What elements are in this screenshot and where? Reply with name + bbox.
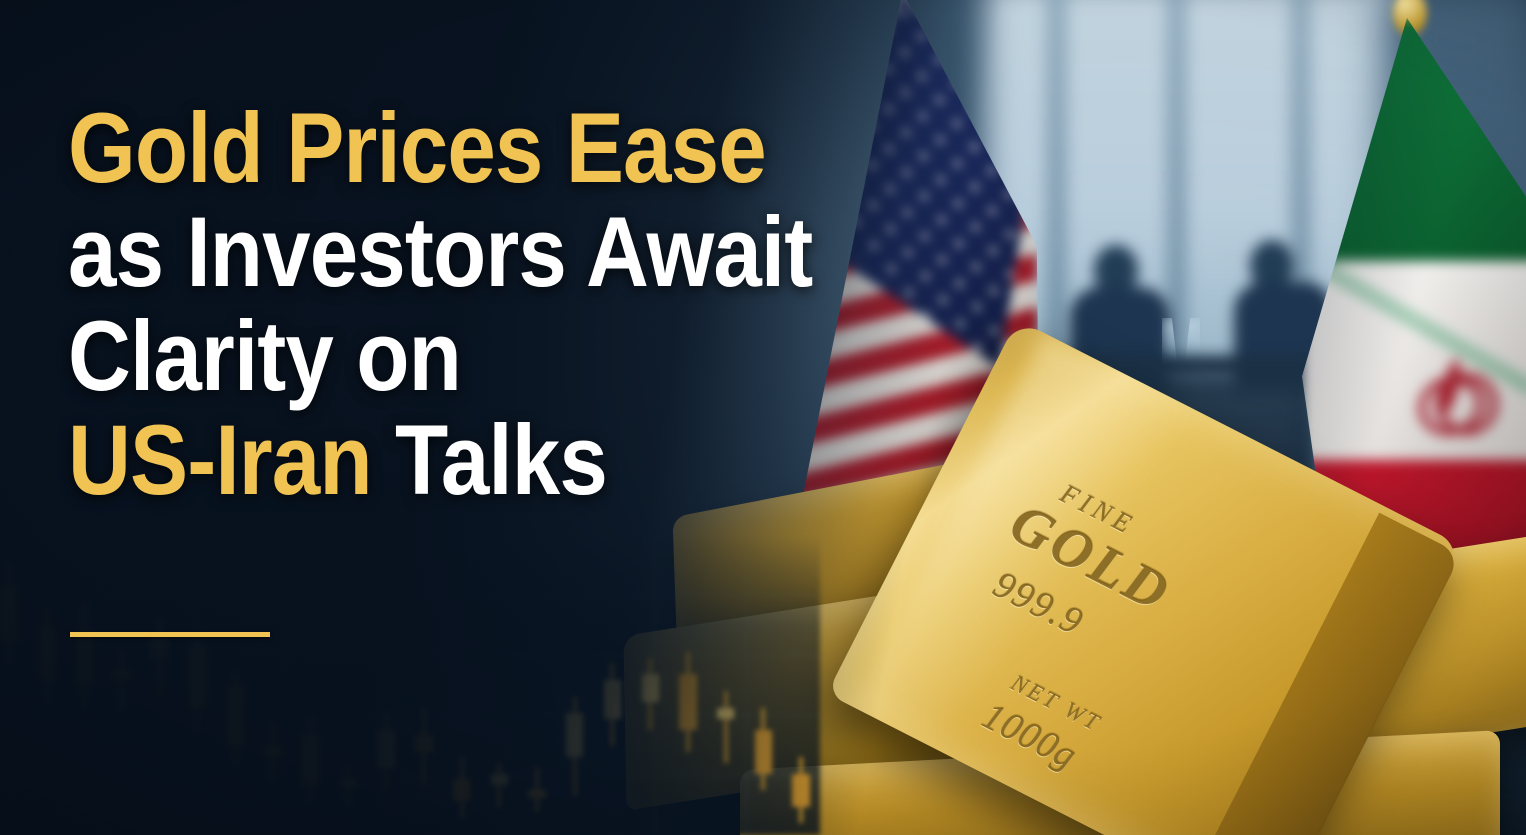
chart-candle-wick [724, 691, 728, 763]
chart-candle-body [264, 746, 281, 757]
chart-gridline-vertical [561, 535, 562, 835]
chart-candle [113, 535, 130, 835]
chart-candle-body [755, 730, 772, 774]
chart-candle [642, 535, 659, 835]
headline-line-3: Clarity on [68, 304, 737, 408]
chart-candle-wick [120, 652, 124, 707]
headline-keyword-us-iran: US-Iran [68, 404, 372, 515]
headline-line-2: as Investors Await [68, 200, 737, 304]
chart-candle-body [189, 647, 206, 708]
chart-candle-body [151, 636, 168, 658]
chart-candle-body [679, 674, 696, 729]
headline-word-talks: Talks [372, 404, 607, 515]
chart-candle-body [38, 625, 55, 680]
chart-candle-body [792, 774, 809, 807]
chart-candle [0, 535, 17, 835]
chart-candle [453, 535, 470, 835]
chart-candle-body [491, 774, 508, 785]
chart-candle [491, 535, 508, 835]
headline-line-1: Gold Prices Ease [68, 96, 737, 200]
headline-line-4: US-Iran Talks [68, 408, 737, 512]
chart-candle-body [566, 713, 583, 757]
chart-candle [189, 535, 206, 835]
chart-candle [227, 535, 244, 835]
chart-candle [528, 535, 545, 835]
chart-candle [415, 535, 432, 835]
chart-candle-body [302, 735, 319, 785]
chart-candle [38, 535, 55, 835]
headline: Gold Prices Ease as Investors Await Clar… [68, 96, 737, 512]
chart-candle-body [76, 630, 93, 685]
chart-candle [76, 535, 93, 835]
chart-candle-wick [346, 768, 350, 807]
chart-candle-body [113, 669, 130, 680]
chart-candle [302, 535, 319, 835]
chart-candle [679, 535, 696, 835]
chart-candle-body [528, 790, 545, 798]
chart-candle-body [717, 708, 734, 719]
chart-candle [792, 535, 809, 835]
chart-candle-body [604, 680, 621, 719]
gold-underline-rule [70, 632, 270, 637]
chart-gridline-vertical [285, 535, 286, 835]
chart-candle-body [227, 685, 244, 746]
chart-candle [566, 535, 583, 835]
chart-candle-body [453, 779, 470, 801]
chart-candle [604, 535, 621, 835]
news-graphic-canvas: GOLD FINE GOLD 999.9 NET WT 1000g [0, 0, 1526, 835]
chart-candle-body [340, 779, 357, 787]
chart-candle-body [377, 730, 394, 769]
chart-candle-body [415, 735, 432, 752]
chart-candle [340, 535, 357, 835]
chart-candle-body [642, 674, 659, 702]
chart-candle-wick [497, 763, 501, 807]
chart-gridline-vertical [100, 535, 101, 835]
chart-candle [264, 535, 281, 835]
chart-gridline-vertical [746, 535, 747, 835]
chart-candle-body [0, 586, 17, 641]
chart-candle [377, 535, 394, 835]
candlestick-chart [0, 535, 820, 835]
chart-candle [717, 535, 734, 835]
chart-candle [151, 535, 168, 835]
chart-candle [755, 535, 772, 835]
